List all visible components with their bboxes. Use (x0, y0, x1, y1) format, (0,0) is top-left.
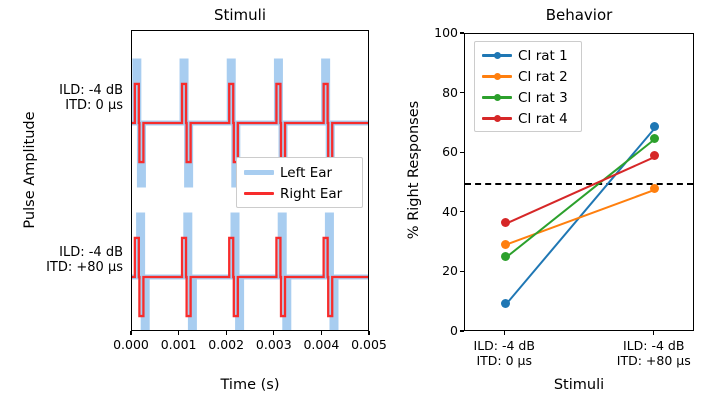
stimuli-x-axis-label: Time (s) (131, 377, 369, 393)
behavior-y-tick-label: 60 (418, 144, 458, 159)
behavior-y-tick-label: 100 (418, 25, 458, 40)
stimuli-x-tick-label: 0.001 (155, 337, 203, 352)
stimuli-annotation-bottom-itd: ITD: +80 µs (18, 260, 123, 275)
ci-rat-1-marker-swatch-icon (482, 49, 512, 63)
behavior-y-tick-label: 40 (418, 204, 458, 219)
legend-item-right-ear[interactable]: Right Ear (237, 183, 362, 204)
behavior-x-axis-label: Stimuli (464, 377, 694, 393)
stimuli-x-tick-mark (368, 331, 369, 335)
figure-canvas: Stimuli Pulse Amplitude ILD: -4 dB ITD: … (0, 0, 721, 405)
stimuli-x-tick-label: 0.000 (107, 337, 155, 352)
stimuli-annotation-top-itd: ITD: 0 µs (28, 98, 123, 113)
behavior-point-ci-rat-1-1[interactable] (650, 122, 659, 131)
legend-label-ci-rat-1: CI rat 1 (518, 48, 576, 64)
behavior-x-category-1-ild: ILD: -4 dB (444, 338, 564, 353)
left-ear-line-swatch-icon (244, 166, 274, 180)
legend-item-ci-rat-1[interactable]: CI rat 1 (475, 45, 581, 66)
behavior-x-tick-mark (504, 331, 505, 335)
stimuli-annotation-bottom: ILD: -4 dB ITD: +80 µs (18, 245, 123, 275)
behavior-point-ci-rat-3-0[interactable] (501, 252, 510, 261)
behavior-y-tick-mark (460, 330, 464, 331)
behavior-point-ci-rat-2-0[interactable] (501, 240, 510, 249)
stimuli-x-tick-mark (130, 331, 131, 335)
behavior-point-ci-rat-4-0[interactable] (501, 218, 510, 227)
legend-item-ci-rat-4[interactable]: CI rat 4 (475, 108, 581, 129)
stimuli-x-tick-mark (321, 331, 322, 335)
behavior-panel-title: Behavior (464, 6, 694, 24)
behavior-y-tick-mark (460, 32, 464, 33)
stimuli-panel-title: Stimuli (131, 6, 349, 24)
legend-label-ci-rat-4: CI rat 4 (518, 111, 576, 127)
behavior-x-category-2-ild: ILD: -4 dB (594, 338, 714, 353)
stimuli-x-tick-mark (226, 331, 227, 335)
stimuli-x-tick-label: 0.004 (297, 337, 345, 352)
legend-item-left-ear[interactable]: Left Ear (237, 162, 362, 183)
behavior-y-tick-mark (460, 152, 464, 153)
behavior-point-ci-rat-2-1[interactable] (650, 184, 659, 193)
behavior-point-ci-rat-3-1[interactable] (650, 134, 659, 143)
stimuli-x-tick-label: 0.002 (202, 337, 250, 352)
stimuli-annotation-top: ILD: -4 dB ITD: 0 µs (28, 83, 123, 113)
behavior-x-category-2: ILD: -4 dBITD: +80 µs (594, 338, 714, 368)
behavior-x-category-1: ILD: -4 dBITD: 0 µs (444, 338, 564, 368)
stimuli-x-tick-mark (273, 331, 274, 335)
legend-item-ci-rat-3[interactable]: CI rat 3 (475, 87, 581, 108)
stimuli-x-tick-label: 0.005 (345, 337, 393, 352)
stimuli-annotation-bottom-ild: ILD: -4 dB (18, 245, 123, 260)
behavior-y-tick-label: 0 (418, 323, 458, 338)
behavior-x-category-2-itd: ITD: +80 µs (594, 353, 714, 368)
ci-rat-3-marker-swatch-icon (482, 91, 512, 105)
legend-label-ci-rat-3: CI rat 3 (518, 90, 576, 106)
behavior-x-category-1-itd: ITD: 0 µs (444, 353, 564, 368)
stimulus-trace-right-ear (132, 84, 368, 162)
ci-rat-2-marker-swatch-icon (482, 70, 512, 84)
behavior-point-ci-rat-1-0[interactable] (501, 299, 510, 308)
stimuli-x-tick-mark (178, 331, 179, 335)
behavior-point-ci-rat-4-1[interactable] (650, 151, 659, 160)
legend-label-left-ear: Left Ear (280, 165, 340, 181)
behavior-x-tick-mark (653, 331, 654, 335)
stimuli-legend: Left Ear Right Ear (236, 157, 363, 208)
legend-item-ci-rat-2[interactable]: CI rat 2 (475, 66, 581, 87)
behavior-y-tick-label: 20 (418, 263, 458, 278)
behavior-y-tick-mark (460, 92, 464, 93)
legend-label-right-ear: Right Ear (280, 186, 350, 202)
stimuli-annotation-top-ild: ILD: -4 dB (28, 83, 123, 98)
behavior-legend: CI rat 1CI rat 2CI rat 3CI rat 4 (474, 41, 582, 132)
right-ear-line-swatch-icon (244, 187, 274, 201)
chance-level-line (465, 183, 693, 185)
behavior-y-tick-label: 80 (418, 85, 458, 100)
legend-label-ci-rat-2: CI rat 2 (518, 69, 576, 85)
behavior-y-tick-mark (460, 271, 464, 272)
ci-rat-4-marker-swatch-icon (482, 112, 512, 126)
behavior-y-tick-mark (460, 211, 464, 212)
stimuli-x-tick-label: 0.003 (250, 337, 298, 352)
